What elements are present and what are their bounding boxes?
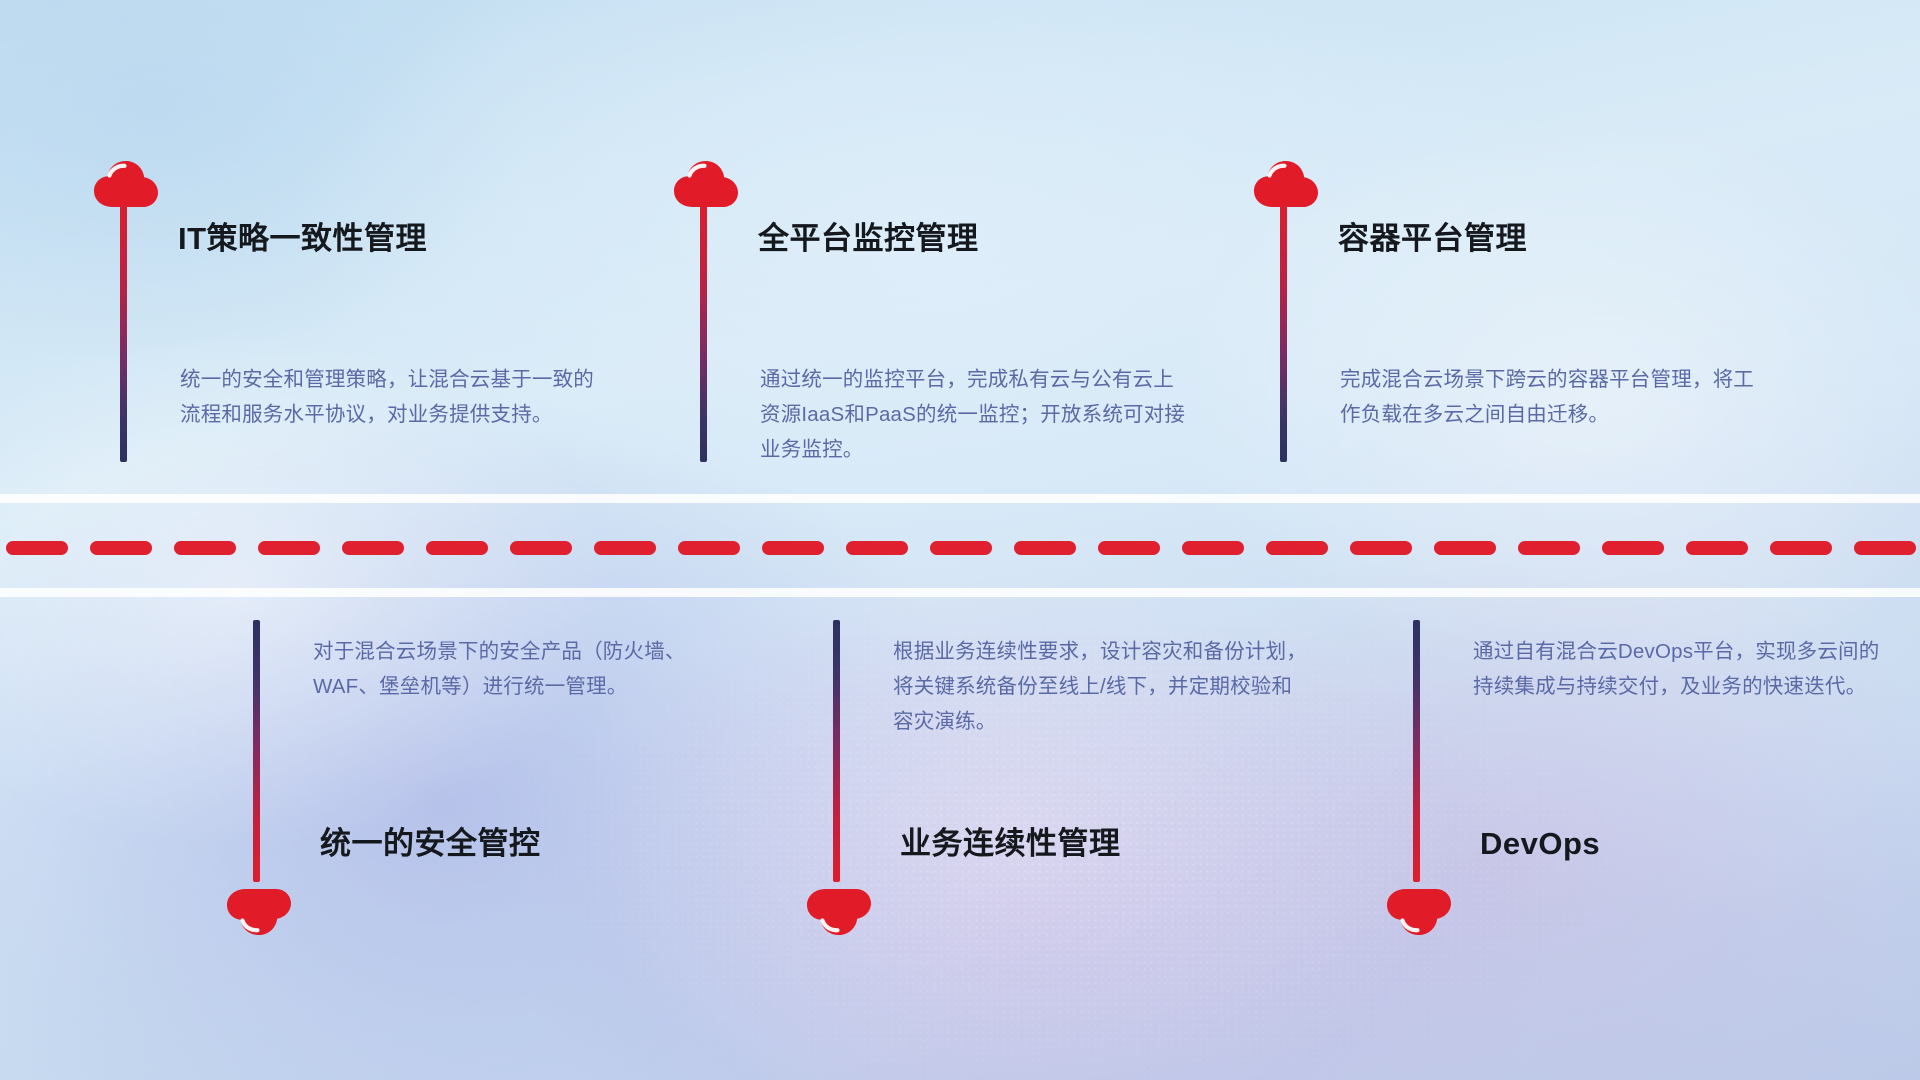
divider-rule-bottom [0,588,1920,597]
dash-segment [1014,541,1076,555]
bottom-column-3-title: DevOps [1480,828,1600,859]
dash-segment [594,541,656,555]
cloud-icon [1386,888,1452,936]
top-column-3-title: 容器平台管理 [1338,223,1527,254]
dash-segment [510,541,572,555]
bottom-column-1-body: 对于混合云场景下的安全产品（防火墙、WAF、堡垒机等）进行统一管理。 [313,634,733,704]
dash-segment [6,541,68,555]
connector-stem [1280,204,1287,462]
bottom-column-2-title: 业务连续性管理 [900,828,1121,859]
connector-stem [120,204,127,462]
bottom-column-2-body: 根据业务连续性要求，设计容灾和备份计划，将关键系统备份至线上/线下，并定期校验和… [893,634,1311,739]
dash-segment [1686,541,1748,555]
infographic-canvas: IT策略一致性管理 统一的安全和管理策略，让混合云基于一致的流程和服务水平协议，… [0,0,1920,1080]
connector-stem [253,620,260,882]
cloud-icon [673,160,739,208]
dash-segment [1350,541,1412,555]
bottom-column-3-body: 通过自有混合云DevOps平台，实现多云间的持续集成与持续交付，及业务的快速迭代… [1473,634,1893,704]
dash-segment [1770,541,1832,555]
connector-stem [700,204,707,462]
dash-segment [1098,541,1160,555]
dash-segment [174,541,236,555]
dash-segment [258,541,320,555]
connector-stem [833,620,840,882]
cloud-icon [806,888,872,936]
top-column-1-body: 统一的安全和管理策略，让混合云基于一致的流程和服务水平协议，对业务提供支持。 [180,362,600,432]
cloud-icon [93,160,159,208]
dash-segment [762,541,824,555]
dash-segment [1602,541,1664,555]
dash-segment [1266,541,1328,555]
dash-segment [846,541,908,555]
connector-stem [1413,620,1420,882]
top-column-3-body: 完成混合云场景下跨云的容器平台管理，将工作负载在多云之间自由迁移。 [1340,362,1765,432]
divider-dashed-line [0,541,1920,555]
top-column-2-body: 通过统一的监控平台，完成私有云与公有云上资源IaaS和PaaS的统一监控；开放系… [760,362,1192,467]
dash-segment [90,541,152,555]
background-glow-center [560,520,1460,1080]
cloud-icon [226,888,292,936]
bottom-column-1-title: 统一的安全管控 [320,828,541,859]
dash-segment [930,541,992,555]
dash-segment [1518,541,1580,555]
dash-segment [1854,541,1916,555]
top-column-2-title: 全平台监控管理 [758,223,979,254]
dash-segment [342,541,404,555]
divider-rule-top [0,494,1920,503]
top-column-1-title: IT策略一致性管理 [178,223,427,254]
dash-segment [1182,541,1244,555]
cloud-icon [1253,160,1319,208]
dash-segment [1434,541,1496,555]
dash-segment [678,541,740,555]
dash-segment [426,541,488,555]
